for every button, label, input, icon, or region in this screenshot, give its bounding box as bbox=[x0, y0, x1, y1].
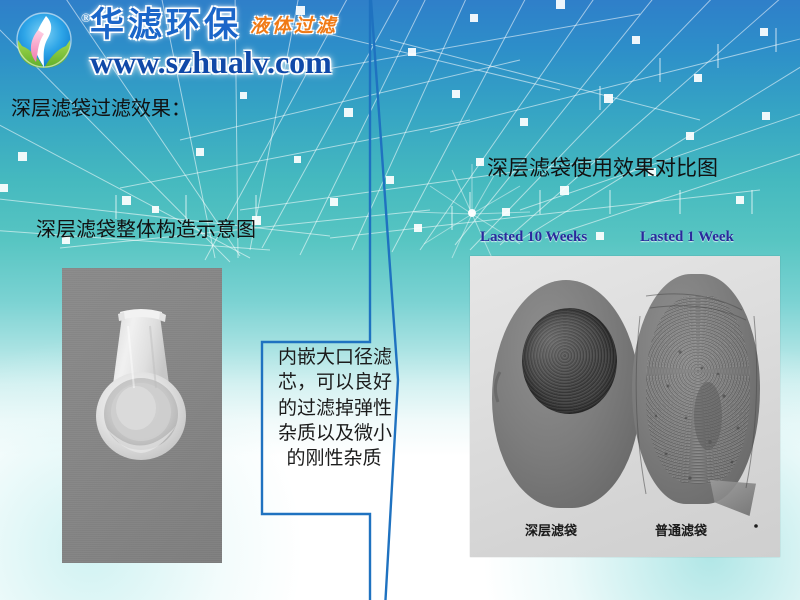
callout-line-2: 芯，可以良好 bbox=[278, 370, 390, 395]
callout-line-4: 杂质以及微小 bbox=[278, 421, 390, 446]
structure-title: 深层滤袋整体构造示意图 bbox=[36, 213, 256, 242]
slide-heading: 深层滤袋过滤效果： bbox=[11, 92, 191, 121]
filter-bag-comparison-photo: 深层滤袋 普通滤袋 bbox=[470, 256, 780, 557]
filter-bag-product-photo bbox=[62, 268, 222, 563]
brand-name-row: 华滤环保 液体过滤 bbox=[90, 8, 338, 42]
callout-line-1: 内嵌大口径滤 bbox=[278, 345, 390, 370]
brand-name-cn: 华滤环保 bbox=[90, 8, 242, 42]
caption-normal-filter-bag: 普通滤袋 bbox=[655, 520, 707, 539]
comparison-title: 深层滤袋使用效果对比图 bbox=[487, 152, 718, 182]
callout-line-3: 的过滤掉弹性 bbox=[278, 396, 390, 421]
callout-line-5: 的刚性杂质 bbox=[278, 446, 390, 471]
slide-canvas: ® 华滤环保 液体过滤 www.szhualv.com 深层滤袋过滤效果： 深层… bbox=[0, 0, 800, 600]
deep-filter-bag-opening bbox=[522, 308, 617, 414]
label-lasted-1-week: Lasted 1 Week bbox=[640, 229, 734, 246]
brand-logo-block: ® 华滤环保 液体过滤 www.szhualv.com bbox=[8, 6, 338, 78]
hualv-leaf-circle-logo-icon: ® bbox=[8, 6, 80, 78]
normal-filter-bag-torn-edge bbox=[710, 480, 756, 516]
callout-text: 内嵌大口径滤 芯，可以良好 的过滤掉弹性 杂质以及微小 的刚性杂质 bbox=[278, 345, 390, 471]
brand-text-wrap: 华滤环保 液体过滤 www.szhualv.com bbox=[90, 6, 338, 78]
brand-tagline-cn: 液体过滤 bbox=[250, 11, 338, 38]
normal-filter-bag-surface bbox=[646, 296, 750, 484]
brand-website-url[interactable]: www.szhualv.com bbox=[90, 46, 338, 78]
caption-deep-filter-bag: 深层滤袋 bbox=[525, 520, 577, 539]
label-lasted-10-weeks: Lasted 10 Weeks bbox=[480, 229, 587, 246]
